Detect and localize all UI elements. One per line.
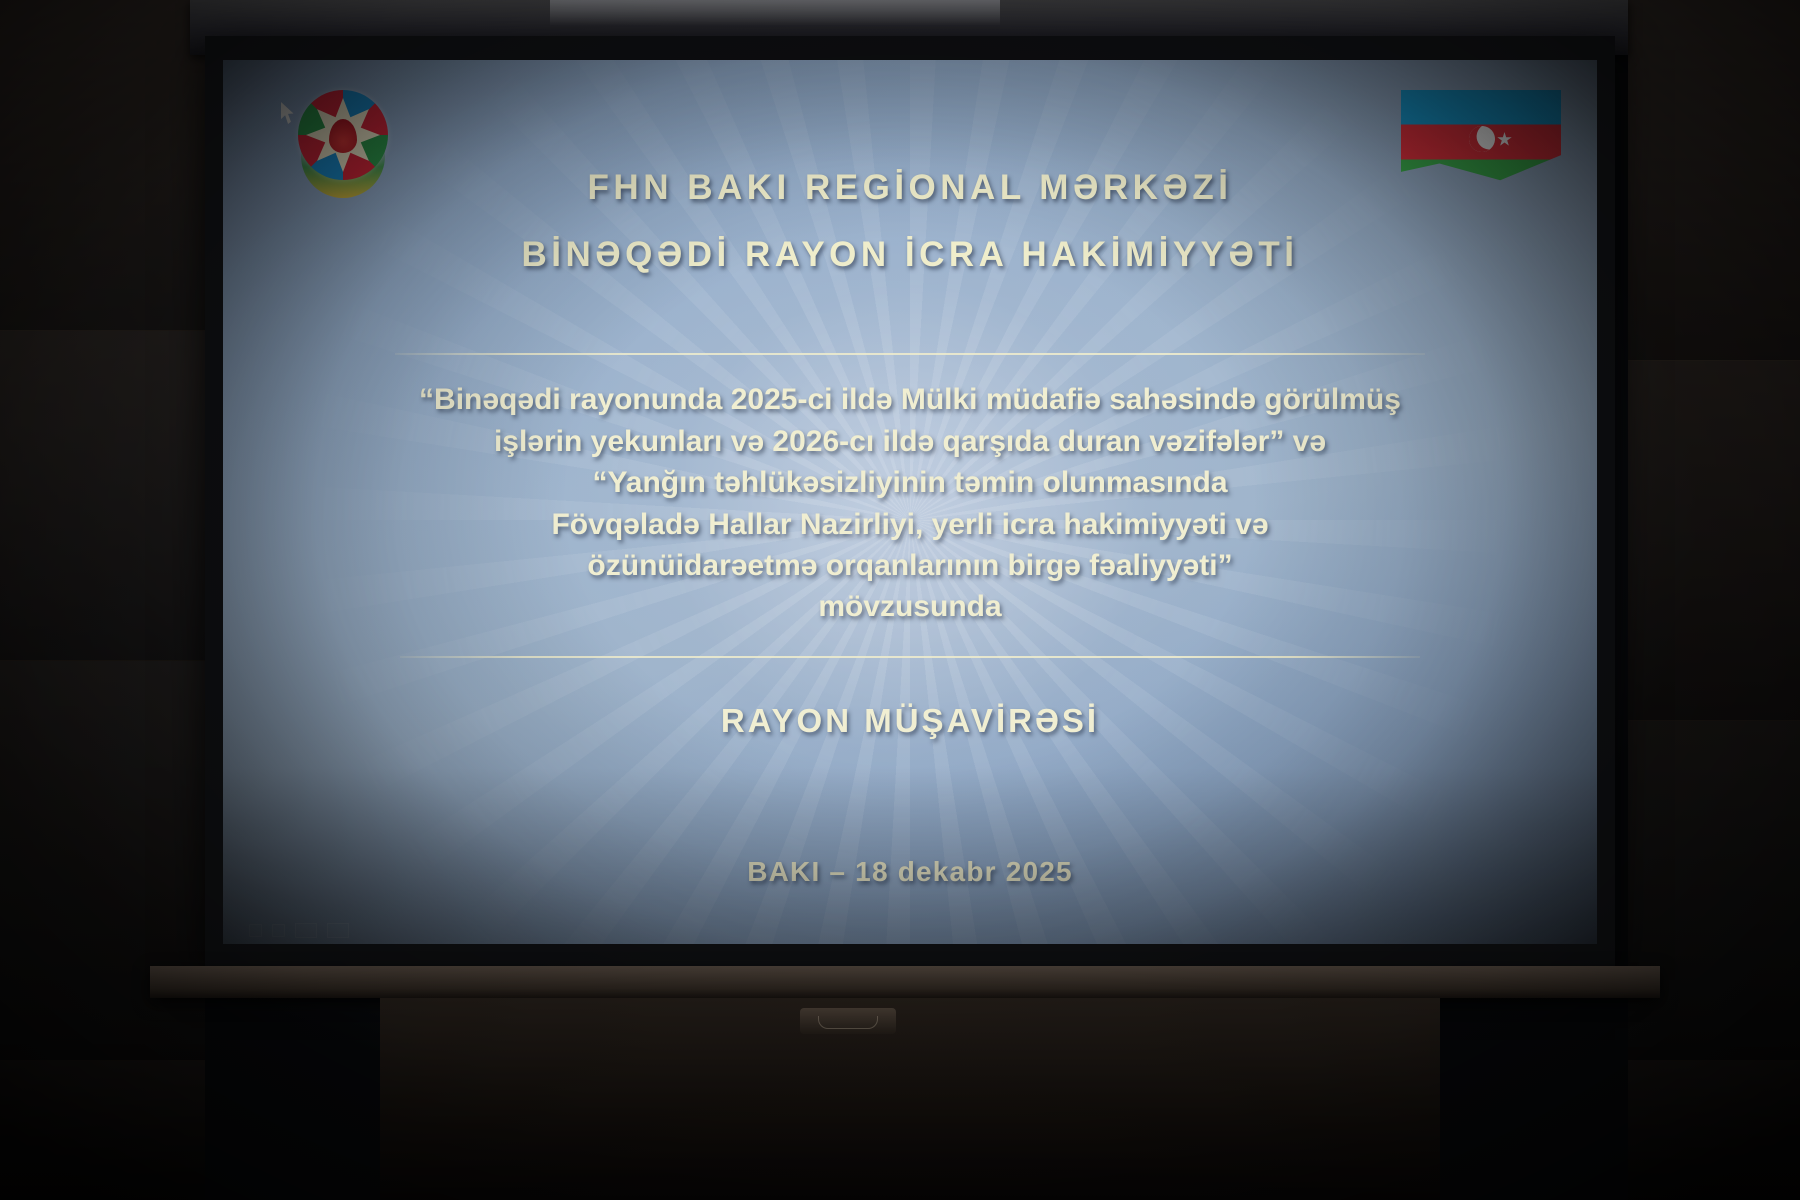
floor-left [0,1060,205,1200]
podium [380,998,1440,1200]
topic-line: “Binəqədi rayonunda 2025-ci ildə Mülki m… [283,379,1537,420]
meeting-title: RAYON MÜŞAVİRƏSİ [283,702,1537,740]
housing-light-reflection [550,0,1000,26]
topic-line: “Yanğın təhlükəsizliyinin təmin olunması… [283,462,1537,503]
divider-bottom [400,656,1420,658]
screen-base-ledge [150,966,1660,998]
podium-handle [818,1016,878,1029]
slide-content: FHN BAKI REGİONAL MƏRKƏZİ BİNƏQƏDİ RAYON… [223,60,1597,944]
projection-screen-frame: FHN BAKI REGİONAL MƏRKƏZİ BİNƏQƏDİ RAYON… [205,36,1615,966]
topic-line: özünüidarəetmə orqanlarının birgə fəaliy… [283,545,1537,586]
wall-panel-right-lower [1628,720,1800,1061]
taskbar-icon-2[interactable] [272,924,285,937]
organization-line-1: FHN BAKI REGİONAL MƏRKƏZİ [283,160,1537,217]
conference-room-background: FHN BAKI REGİONAL MƏRKƏZİ BİNƏQƏDİ RAYON… [0,0,1800,1200]
wall-panel-right-middle [1628,360,1800,721]
taskbar-icon-1[interactable] [249,924,262,937]
slide-topic-block: “Binəqədi rayonunda 2025-ci ildə Mülki m… [283,379,1537,627]
topic-line: işlərin yekunları və 2026-cı ildə qarşıd… [283,421,1537,462]
slide-footer-date: BAKI – 18 dekabr 2025 [223,856,1597,888]
wall-panel-left-middle [0,330,205,661]
presentation-slide: FHN BAKI REGİONAL MƏRKƏZİ BİNƏQƏDİ RAYON… [223,60,1597,944]
taskbar-strip[interactable] [223,916,1597,944]
taskbar-icon-3[interactable] [295,923,317,938]
taskbar-icon-4[interactable] [327,923,349,938]
wall-panel-left-lower [0,660,205,1061]
topic-line: Fövqəladə Hallar Nazirliyi, yerli icra h… [283,504,1537,545]
wall-panel-right-upper [1628,0,1800,361]
organization-line-2: BİNƏQƏDİ RAYON İCRA HAKİMİYYƏTİ [283,227,1537,284]
topic-line: mövzusunda [283,586,1537,627]
wall-panel-left-upper [0,0,205,331]
floor-right [1628,1060,1800,1200]
divider-top [395,353,1425,355]
